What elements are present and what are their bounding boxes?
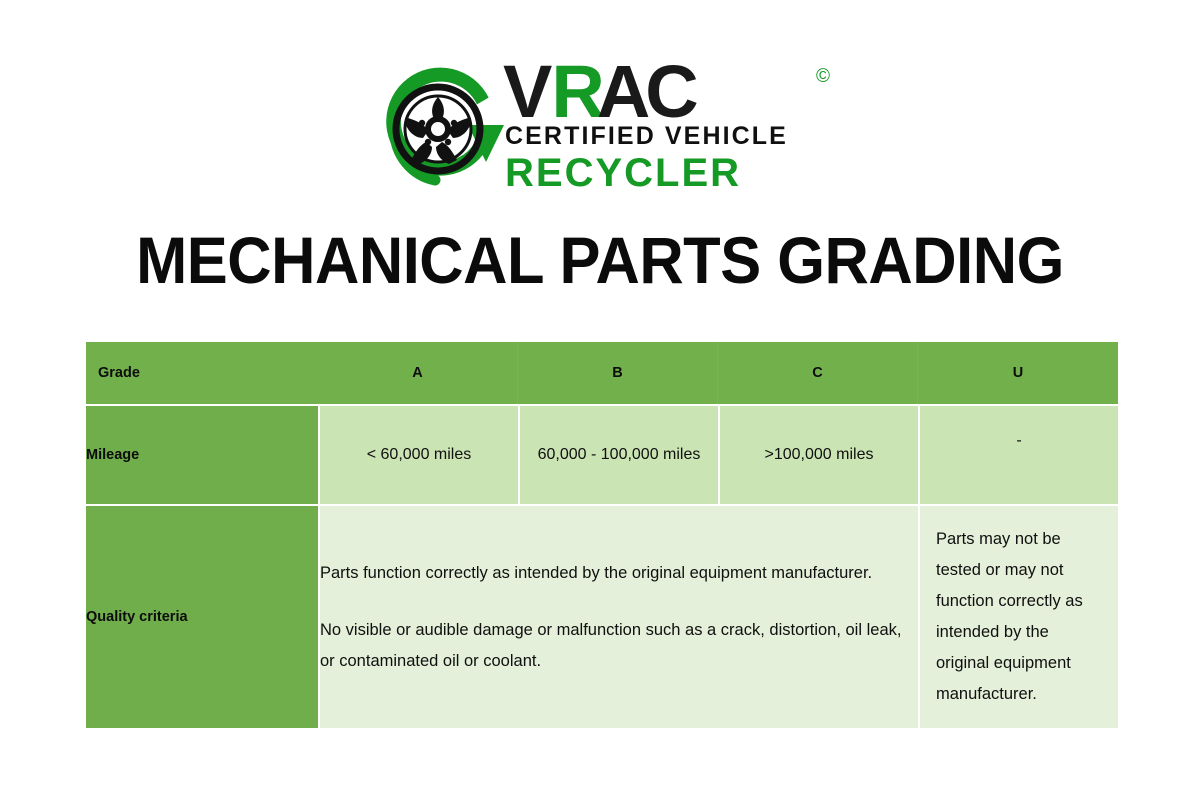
copyright-icon: ©: [816, 67, 829, 86]
logo-letter-r: R: [551, 50, 603, 133]
page-root: VRAC © CERTIFIED VEHICLE RECYCLER MECHAN…: [0, 0, 1200, 800]
page-title: MECHANICAL PARTS GRADING: [42, 224, 1158, 296]
table-header-row: Grade A B C U: [86, 342, 1118, 404]
quality-criteria-u: Parts may not be tested or may not funct…: [918, 504, 1118, 728]
mileage-grade-a: < 60,000 miles: [318, 404, 518, 504]
quality-paragraph-2: No visible or audible damage or malfunct…: [320, 615, 918, 677]
row-label-mileage: Mileage: [86, 404, 318, 504]
logo-tagline-bottom: RECYCLER: [505, 151, 741, 196]
logo-letter-v: V: [503, 50, 551, 133]
mileage-grade-b: 60,000 - 100,000 miles: [518, 404, 718, 504]
logo-letter-a: A: [597, 50, 649, 133]
mechanical-parts-grading-table: Grade A B C U Mileage < 60,000 miles 60,…: [86, 342, 1118, 728]
table-row-mileage: Mileage < 60,000 miles 60,000 - 100,000 …: [86, 404, 1118, 504]
quality-criteria-abc: Parts function correctly as intended by …: [318, 504, 918, 728]
logo-wordmark: VRAC © CERTIFIED VEHICLE RECYCLER: [503, 55, 848, 200]
vrac-logo: VRAC © CERTIFIED VEHICLE RECYCLER: [373, 55, 843, 200]
header-grade-c: C: [718, 342, 918, 404]
header-grade-b: B: [518, 342, 718, 404]
header-grade-u: U: [918, 342, 1118, 404]
mileage-grade-c: >100,000 miles: [718, 404, 918, 504]
logo-tagline-top: CERTIFIED VEHICLE: [505, 122, 788, 151]
row-label-quality-criteria: Quality criteria: [86, 504, 318, 728]
mileage-grade-u: -: [918, 404, 1118, 504]
quality-paragraph-1: Parts function correctly as intended by …: [320, 558, 918, 589]
recycle-wheel-icon: [373, 61, 513, 196]
logo-letter-c: C: [645, 50, 697, 133]
logo-vrac-text: VRAC ©: [503, 58, 698, 126]
header-grade-a: A: [318, 342, 518, 404]
table-row-quality-criteria: Quality criteria Parts function correctl…: [86, 504, 1118, 728]
header-grade-label: Grade: [86, 342, 318, 404]
